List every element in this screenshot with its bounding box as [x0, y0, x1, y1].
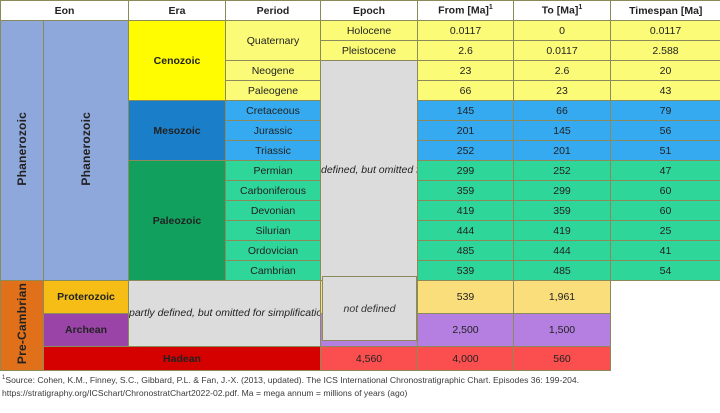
from-cell: 66	[418, 81, 514, 101]
from-cell: 359	[418, 181, 514, 201]
from-cell: 0.0117	[418, 21, 514, 41]
to-cell: 419	[514, 221, 611, 241]
period-cell-jurassic: Jurassic	[226, 121, 321, 141]
footnote-source-text: Source: Cohen, K.M., Finney, S.C., Gibba…	[5, 375, 579, 385]
period-cell-permian: Permian	[226, 161, 321, 181]
era-cell-hadean: Hadean	[44, 347, 321, 371]
header-to-label: To [Ma]	[542, 5, 579, 17]
period-cell-silurian: Silurian	[226, 221, 321, 241]
to-cell: 485	[514, 261, 611, 281]
period-cell-neogene: Neogene	[226, 61, 321, 81]
header-from-label: From [Ma]	[438, 5, 489, 17]
eon-cell-phanerozoic: Phanerozoic	[44, 21, 129, 281]
timespan-cell: 1,500	[514, 314, 611, 347]
eon-cell-phanerozoic-narrow: Phanerozoic	[1, 21, 44, 281]
epoch-cell-pleistocene: Pleistocene	[321, 41, 418, 61]
from-cell: 201	[418, 121, 514, 141]
footnote-line-1: 1Source: Cohen, K.M., Finney, S.C., Gibb…	[2, 374, 718, 387]
geologic-time-scale-chart: Eon Era Period Epoch From [Ma]1 To [Ma]1…	[0, 0, 720, 413]
from-cell: 299	[418, 161, 514, 181]
timespan-cell: 1,961	[514, 281, 611, 314]
eon-label-phanerozoic-2: Phanerozoic	[79, 112, 93, 186]
timespan-cell: 25	[611, 221, 720, 241]
era-cell-cenozoic: Cenozoic	[129, 21, 226, 101]
table-row: Phanerozoic Phanerozoic Cenozoic Quatern…	[1, 21, 720, 41]
footnote: 1Source: Cohen, K.M., Finney, S.C., Gibb…	[0, 371, 720, 401]
timespan-cell: 41	[611, 241, 720, 261]
to-cell: 359	[514, 201, 611, 221]
period-note-partly-defined: partly defined, but omitted for simplifi…	[129, 281, 321, 347]
to-cell: 0.0117	[514, 41, 611, 61]
table-row: Hadean 4,560 4,000 560	[1, 347, 720, 371]
period-cell-cretaceous: Cretaceous	[226, 101, 321, 121]
to-cell: 4,000	[418, 347, 514, 371]
timespan-cell: 20	[611, 61, 720, 81]
timespan-cell: 43	[611, 81, 720, 101]
era-cell-proterozoic: Proterozoic	[44, 281, 129, 314]
epoch-note-not-defined-overlay: not defined	[322, 276, 417, 341]
period-cell-carboniferous: Carboniferous	[226, 181, 321, 201]
to-cell: 444	[514, 241, 611, 261]
timespan-cell: 47	[611, 161, 720, 181]
timespan-cell: 60	[611, 181, 720, 201]
timespan-cell: 79	[611, 101, 720, 121]
to-cell: 299	[514, 181, 611, 201]
from-cell: 4,560	[321, 347, 418, 371]
header-era: Era	[129, 1, 226, 21]
eon-label-precambrian: Pre-Cambrian	[15, 283, 29, 364]
header-timespan: Timespan [Ma]	[611, 1, 720, 21]
to-cell: 23	[514, 81, 611, 101]
to-cell: 2.6	[514, 61, 611, 81]
from-cell: 23	[418, 61, 514, 81]
footnote-line-2: https://stratigraphy.org/ICSchart/Chrono…	[2, 387, 718, 400]
timespan-cell: 56	[611, 121, 720, 141]
from-cell: 2.6	[418, 41, 514, 61]
from-cell: 539	[418, 261, 514, 281]
eon-label-phanerozoic: Phanerozoic	[15, 112, 29, 186]
timespan-cell: 54	[611, 261, 720, 281]
to-cell: 66	[514, 101, 611, 121]
period-cell-quaternary: Quaternary	[226, 21, 321, 61]
period-cell-ordovician: Ordovician	[226, 241, 321, 261]
period-cell-paleogene: Paleogene	[226, 81, 321, 101]
to-cell: 2,500	[418, 314, 514, 347]
timespan-cell: 560	[514, 347, 611, 371]
eon-cell-precambrian: Pre-Cambrian	[1, 281, 44, 371]
from-cell: 252	[418, 141, 514, 161]
from-cell: 485	[418, 241, 514, 261]
epoch-note-not-defined: not defined	[344, 303, 396, 315]
header-from: From [Ma]1	[418, 1, 514, 21]
to-cell: 201	[514, 141, 611, 161]
to-cell: 539	[418, 281, 514, 314]
header-to-footnote-marker: 1	[578, 4, 582, 11]
epoch-cell-holocene: Holocene	[321, 21, 418, 41]
from-cell: 419	[418, 201, 514, 221]
header-period: Period	[226, 1, 321, 21]
period-cell-cambrian: Cambrian	[226, 261, 321, 281]
header-epoch: Epoch	[321, 1, 418, 21]
timespan-cell: 0.0117	[611, 21, 720, 41]
period-cell-triassic: Triassic	[226, 141, 321, 161]
to-cell: 252	[514, 161, 611, 181]
table-header-row: Eon Era Period Epoch From [Ma]1 To [Ma]1…	[1, 1, 720, 21]
to-cell: 145	[514, 121, 611, 141]
timespan-cell: 2.588	[611, 41, 720, 61]
to-cell: 0	[514, 21, 611, 41]
header-to: To [Ma]1	[514, 1, 611, 21]
timespan-cell: 60	[611, 201, 720, 221]
era-cell-mesozoic: Mesozoic	[129, 101, 226, 161]
era-cell-archean: Archean	[44, 314, 129, 347]
from-cell: 145	[418, 101, 514, 121]
header-eon: Eon	[1, 1, 129, 21]
epoch-note-defined-omitted: defined, but omitted for simplification …	[321, 61, 418, 281]
header-from-footnote-marker: 1	[489, 4, 493, 11]
timespan-cell: 51	[611, 141, 720, 161]
period-cell-devonian: Devonian	[226, 201, 321, 221]
from-cell: 444	[418, 221, 514, 241]
era-cell-paleozoic: Paleozoic	[129, 161, 226, 281]
